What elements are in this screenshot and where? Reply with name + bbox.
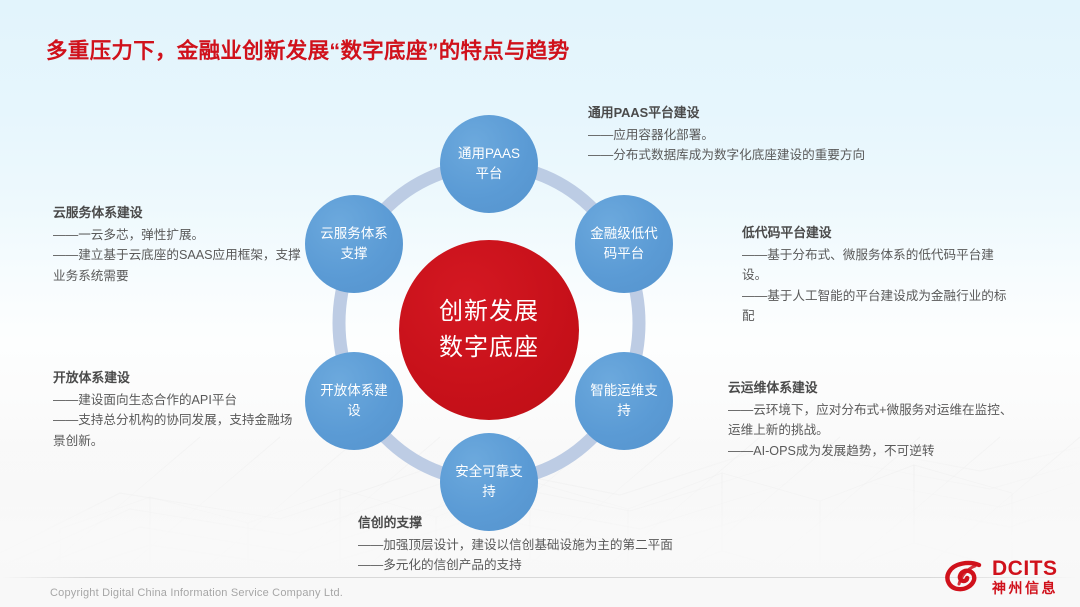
node-low-code[interactable]: 金融级低代 码平台 [575,195,673,293]
callout-xinchuang-line-1: ——加强顶层设计，建设以信创基础设施为主的第二平面 [358,535,688,555]
page-title: 多重压力下，金融业创新发展“数字底座”的特点与趋势 [46,34,570,65]
node-low-code-line2: 码平台 [590,244,658,264]
callout-low-code-title: 低代码平台建设 [742,223,1012,244]
callout-general-paas: 通用PAAS平台建设 ——应用容器化部署。 ——分布式数据库成为数字化底座建设的… [588,103,1008,166]
node-intelligent-ops-line1: 智能运维支 [590,381,658,401]
callout-general-paas-title: 通用PAAS平台建设 [588,103,1008,124]
core-circle: 创新发展 数字底座 [399,240,579,420]
node-open-system-line1: 开放体系建 [320,381,388,401]
logo-cn-text: 神州信息 [992,581,1058,595]
callout-open-system: 开放体系建设 ——建设面向生态合作的API平台 ——支持总分机构的协同发展，支持… [53,368,303,451]
company-logo: DCITS 神州信息 [945,558,1058,595]
callout-cloud-ops-line-2: ——AI-OPS成为发展趋势，不可逆转 [728,441,1018,461]
copyright-text: Copyright Digital China Information Serv… [50,587,343,599]
callout-general-paas-line-2: ——分布式数据库成为数字化底座建设的重要方向 [588,145,1008,165]
callout-open-system-title: 开放体系建设 [53,368,303,389]
node-secure-reliable-line2: 持 [455,482,523,502]
callout-low-code: 低代码平台建设 ——基于分布式、微服务体系的低代码平台建设。 ——基于人工智能的… [742,223,1012,326]
callout-open-system-line-2: ——支持总分机构的协同发展，支持金融场景创新。 [53,410,303,451]
node-general-paas[interactable]: 通用PAAS 平台 [440,115,538,213]
node-low-code-line1: 金融级低代 [590,224,658,244]
node-cloud-service[interactable]: 云服务体系 支撑 [305,195,403,293]
slide-canvas: 多重压力下，金融业创新发展“数字底座”的特点与趋势 通用PAAS 平台 金融级低… [0,0,1080,607]
digital-foundation-diagram: 通用PAAS 平台 金融级低代 码平台 智能运维支 持 安全可靠支 持 [290,100,710,550]
node-cloud-service-line1: 云服务体系 [320,224,388,244]
callout-xinchuang-title: 信创的支撑 [358,513,688,534]
callout-cloud-ops: 云运维体系建设 ——云环境下，应对分布式+微服务对运维在监控、运维上新的挑战。 … [728,378,1018,461]
callout-cloud-ops-line-1: ——云环境下，应对分布式+微服务对运维在监控、运维上新的挑战。 [728,400,1018,441]
callout-cloud-service-line-1: ——一云多芯，弹性扩展。 [53,225,303,245]
callout-cloud-service-title: 云服务体系建设 [53,203,303,224]
callout-general-paas-line-1: ——应用容器化部署。 [588,125,1008,145]
callout-cloud-ops-title: 云运维体系建设 [728,378,1018,399]
dcits-swirl-icon [945,560,985,594]
core-line1: 创新发展 [439,294,539,330]
callout-low-code-line-2: ——基于人工智能的平台建设成为金融行业的标配 [742,286,1012,327]
node-general-paas-line2: 平台 [458,164,520,184]
footer-divider [0,577,1080,578]
callout-xinchuang: 信创的支撑 ——加强顶层设计，建设以信创基础设施为主的第二平面 ——多元化的信创… [358,513,688,576]
callout-open-system-line-1: ——建设面向生态合作的API平台 [53,390,303,410]
node-general-paas-line1: 通用PAAS [458,144,520,164]
logo-en-text: DCITS [992,558,1058,579]
node-intelligent-ops[interactable]: 智能运维支 持 [575,352,673,450]
node-secure-reliable-line1: 安全可靠支 [455,462,523,482]
callout-cloud-service-line-2: ——建立基于云底座的SAAS应用框架，支撑业务系统需要 [53,245,303,286]
callout-low-code-line-1: ——基于分布式、微服务体系的低代码平台建设。 [742,245,1012,286]
node-intelligent-ops-line2: 持 [590,401,658,421]
node-open-system-line2: 设 [320,401,388,421]
logo-wordmark: DCITS 神州信息 [992,558,1058,595]
node-cloud-service-line2: 支撑 [320,244,388,264]
node-open-system[interactable]: 开放体系建 设 [305,352,403,450]
callout-cloud-service: 云服务体系建设 ——一云多芯，弹性扩展。 ——建立基于云底座的SAAS应用框架，… [53,203,303,286]
callout-xinchuang-line-2: ——多元化的信创产品的支持 [358,555,688,575]
core-line2: 数字底座 [439,330,539,366]
